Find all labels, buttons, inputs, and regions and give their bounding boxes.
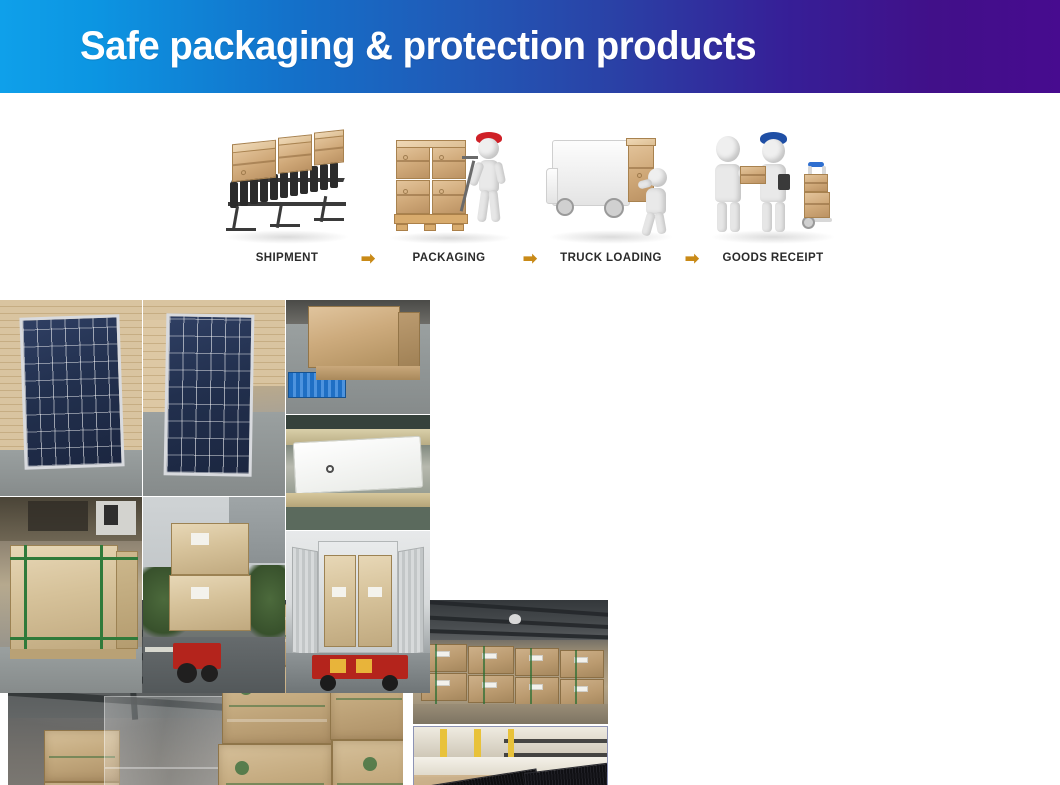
arrow-right-icon: ➡ <box>685 250 699 267</box>
illustration-goods-receipt <box>704 118 842 246</box>
photo-white-panel-on-pallet <box>286 415 430 530</box>
illustration-packaging <box>380 118 518 246</box>
header-banner: Safe packaging & protection products <box>0 0 1060 93</box>
photo-mono-panel-silver-frame <box>143 300 285 496</box>
photo-group-right <box>0 300 430 693</box>
illustration-shipment <box>218 118 356 246</box>
flow-label-truck-loading: TRUCK LOADING <box>542 252 680 264</box>
page-title: Safe packaging & protection products <box>80 24 756 69</box>
slide-page: Safe packaging & protection products <box>0 0 1060 785</box>
photo-gallery <box>0 300 1060 695</box>
photo-carton-on-blue-pallet <box>286 300 430 414</box>
flow-label-goods-receipt: GOODS RECEIPT <box>704 252 842 264</box>
arrow-right-icon: ➡ <box>523 250 537 267</box>
illustration-truck-loading <box>542 118 680 246</box>
flow-label-packaging: PACKAGING <box>380 252 518 264</box>
photo-forklift-outdoor-transport <box>143 497 285 693</box>
photo-carton-pallet-stacks <box>413 600 608 724</box>
photo-container-loading <box>286 531 430 693</box>
process-flow-labels: SHIPMENT ➡ PACKAGING ➡ TRUCK LOADING ➡ G… <box>218 246 842 270</box>
flow-arrow-1: ➡ <box>356 250 380 267</box>
photo-blue-mono-panel <box>0 300 142 496</box>
flow-arrow-2: ➡ <box>518 250 542 267</box>
arrow-right-icon: ➡ <box>361 250 375 267</box>
photo-wooden-crate-strapped <box>0 497 142 693</box>
photo-black-solar-panels <box>413 726 608 785</box>
process-flow: SHIPMENT ➡ PACKAGING ➡ TRUCK LOADING ➡ G… <box>218 118 842 283</box>
flow-arrow-3: ➡ <box>680 250 704 267</box>
flow-label-shipment: SHIPMENT <box>218 252 356 264</box>
process-flow-illustrations <box>218 118 842 246</box>
